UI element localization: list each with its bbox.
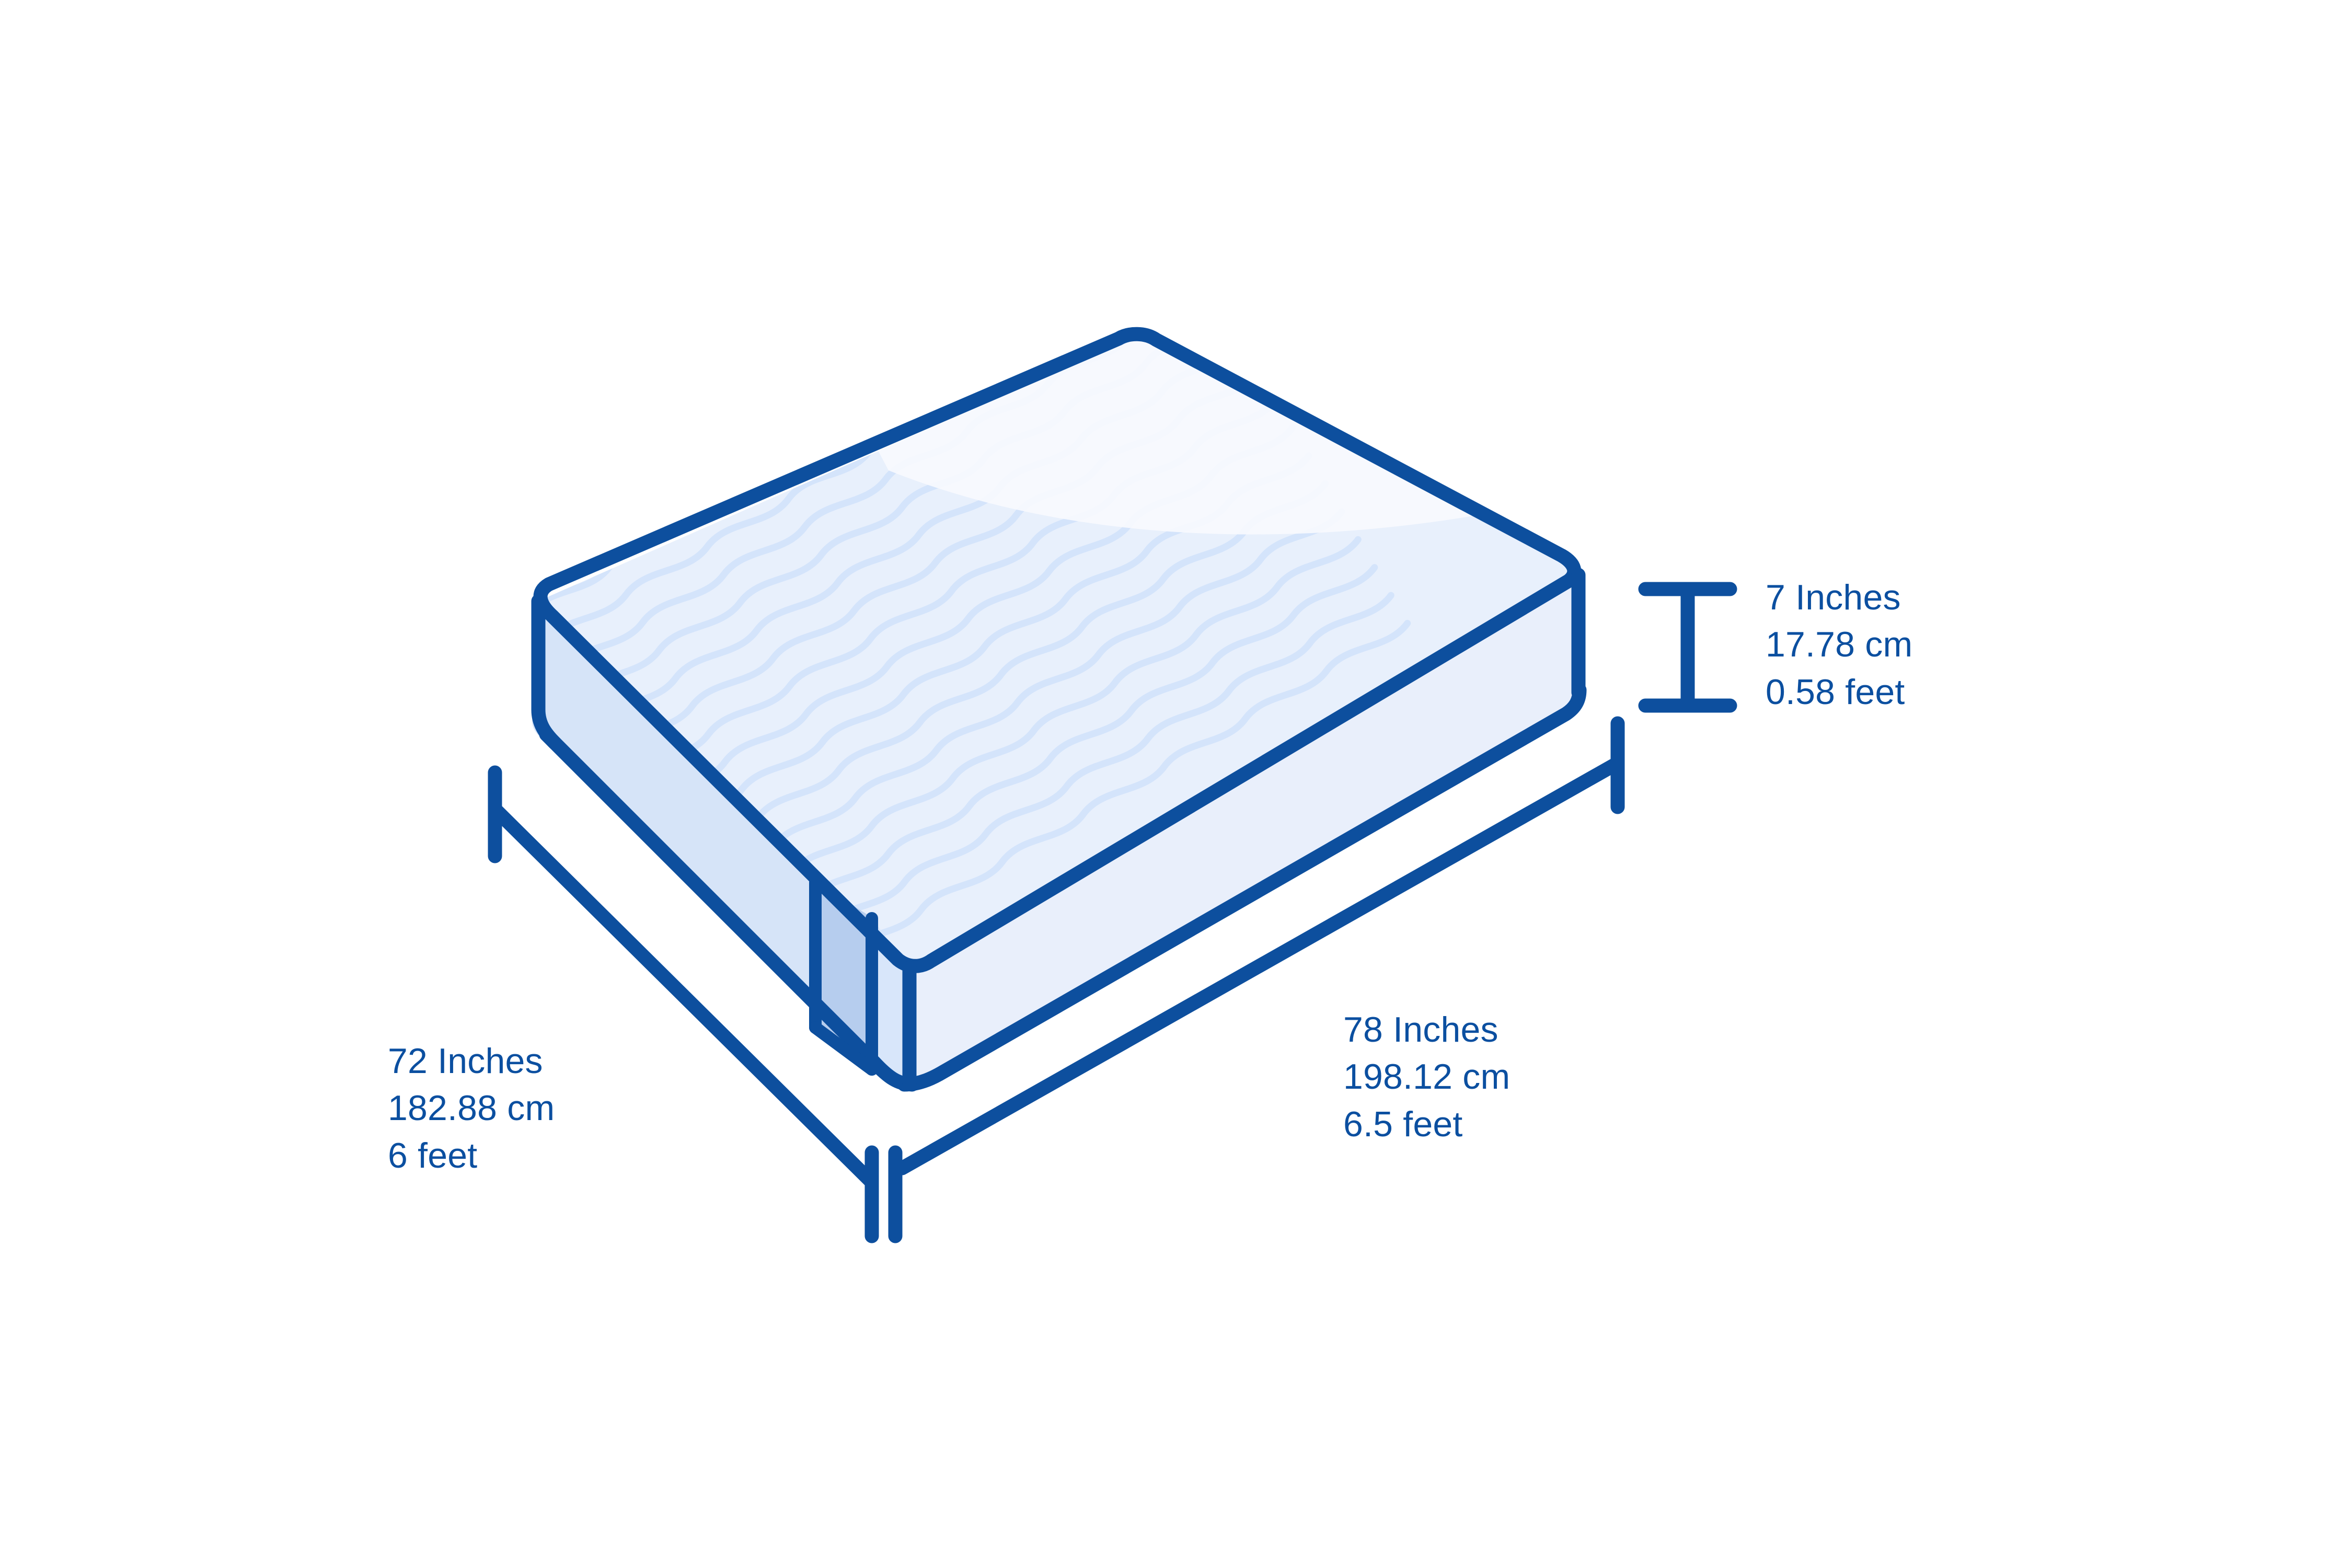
width-cm: 182.88 cm (388, 1085, 555, 1132)
mattress-body (411, 33, 1631, 1085)
width-inches: 72 Inches (388, 1037, 555, 1085)
height-dimension-marker (1645, 589, 1730, 706)
diagram-canvas: 7 Inches 17.78 cm 0.58 feet 78 Inches 19… (0, 0, 2352, 1568)
height-inches: 7 Inches (1766, 574, 1912, 621)
height-feet: 0.58 feet (1766, 668, 1912, 716)
height-cm: 17.78 cm (1766, 621, 1912, 668)
length-inches: 78 Inches (1343, 1006, 1510, 1053)
length-dimension-label: 78 Inches 198.12 cm 6.5 feet (1343, 1006, 1510, 1148)
mattress-dimension-diagram (0, 0, 2352, 1568)
length-cm: 198.12 cm (1343, 1053, 1510, 1100)
height-dimension-label: 7 Inches 17.78 cm 0.58 feet (1766, 574, 1912, 716)
width-feet: 6 feet (388, 1132, 555, 1179)
width-dimension-label: 72 Inches 182.88 cm 6 feet (388, 1037, 555, 1179)
length-feet: 6.5 feet (1343, 1101, 1510, 1148)
